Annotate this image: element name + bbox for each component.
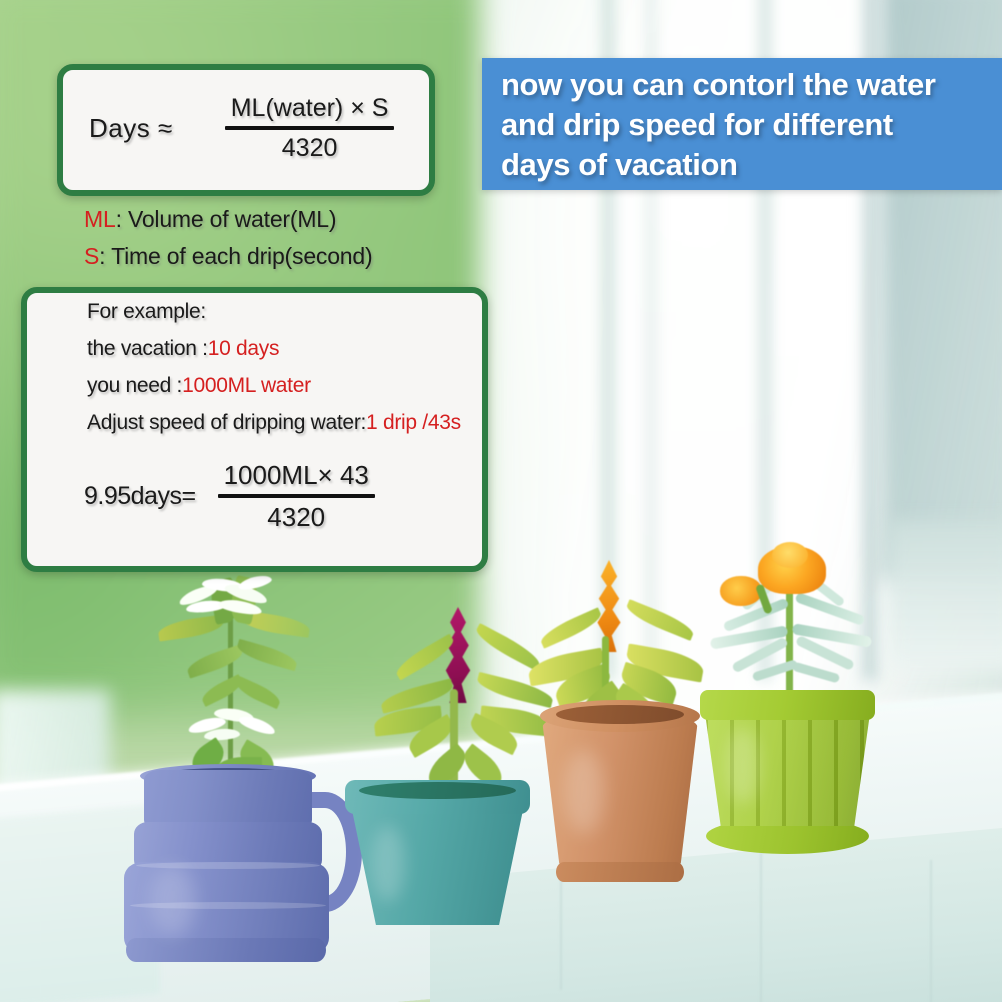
pot-terracotta [540,700,700,885]
example-row-water-label: you need : [87,374,182,397]
window-side-panel-lower [888,520,1002,670]
example-row-water-value: 1000ML water [182,374,311,397]
pot-soil [359,782,516,799]
pot-teal [345,780,530,930]
pot-rim [700,690,875,720]
example-row-water: you need :1000ML water [87,374,311,398]
pot-soil [556,705,684,724]
formula-denominator: 4320 [225,132,395,163]
pot-highlight [150,866,196,936]
formula-row: Days ≈ ML(water) × S 4320 [89,94,427,163]
legend-s-text: Time of each drip(second) [111,243,372,269]
legend-s-sep: : [99,243,111,269]
example-equation-fraction: 1000ML× 43 4320 [218,460,375,533]
fraction-bar [218,494,375,498]
example-equation-lhs: 9.95days= [84,482,196,511]
example-equation-numerator: 1000ML× 43 [218,460,375,493]
pot-neck [144,770,312,830]
legend-ml-symbol: ML [84,206,116,232]
legend-s: S: Time of each drip(second) [84,243,372,270]
banner-line-3: days of vacation [482,145,1002,185]
legend-s-symbol: S [84,243,99,269]
marigold-bloom [720,576,762,606]
pot-base [556,862,684,882]
example-row-vacation-value: 10 days [208,337,279,360]
example-row-speed-label: Adjust speed of dripping water: [87,411,366,434]
banner-line-1: now you can contorl the water [482,65,1002,105]
pot-highlight [564,750,604,834]
formula-fraction: ML(water) × S 4320 [225,94,395,163]
celosia-bloom-orange [592,560,626,652]
pot-green-scalloped [700,690,875,865]
pot-blue-pitcher [120,770,335,960]
legend-ml-sep: : [116,206,128,232]
pot-highlight [726,728,760,804]
banner-line-2: and drip speed for different [482,105,1002,145]
example-row-speed: Adjust speed of dripping water:1 drip /4… [87,411,461,435]
legend-ml-text: Volume of water(ML) [128,206,336,232]
example-equation-denominator: 4320 [218,500,375,533]
plant-white-daisies [140,575,360,785]
plant-marigold [700,540,890,715]
legend-ml: ML: Volume of water(ML) [84,206,336,233]
formula-numerator: ML(water) × S [225,94,395,125]
tile-seam [930,860,932,1002]
formula-panel: Days ≈ ML(water) × S 4320 [57,64,435,196]
promo-banner: now you can contorl the water and drip s… [482,58,1002,190]
product-infographic: now you can contorl the water and drip s… [0,0,1002,1002]
example-row-speed-value: 1 drip /43s [366,411,461,434]
formula-lhs: Days ≈ [89,113,173,144]
fraction-bar [225,126,395,130]
pot-highlight [371,826,405,902]
example-heading: For example: [87,300,206,324]
example-row-vacation: the vacation :10 days [87,337,279,361]
example-row-vacation-label: the vacation : [87,337,208,360]
example-equation: 9.95days= 1000ML× 43 4320 [84,460,375,533]
pot-base [126,938,326,962]
